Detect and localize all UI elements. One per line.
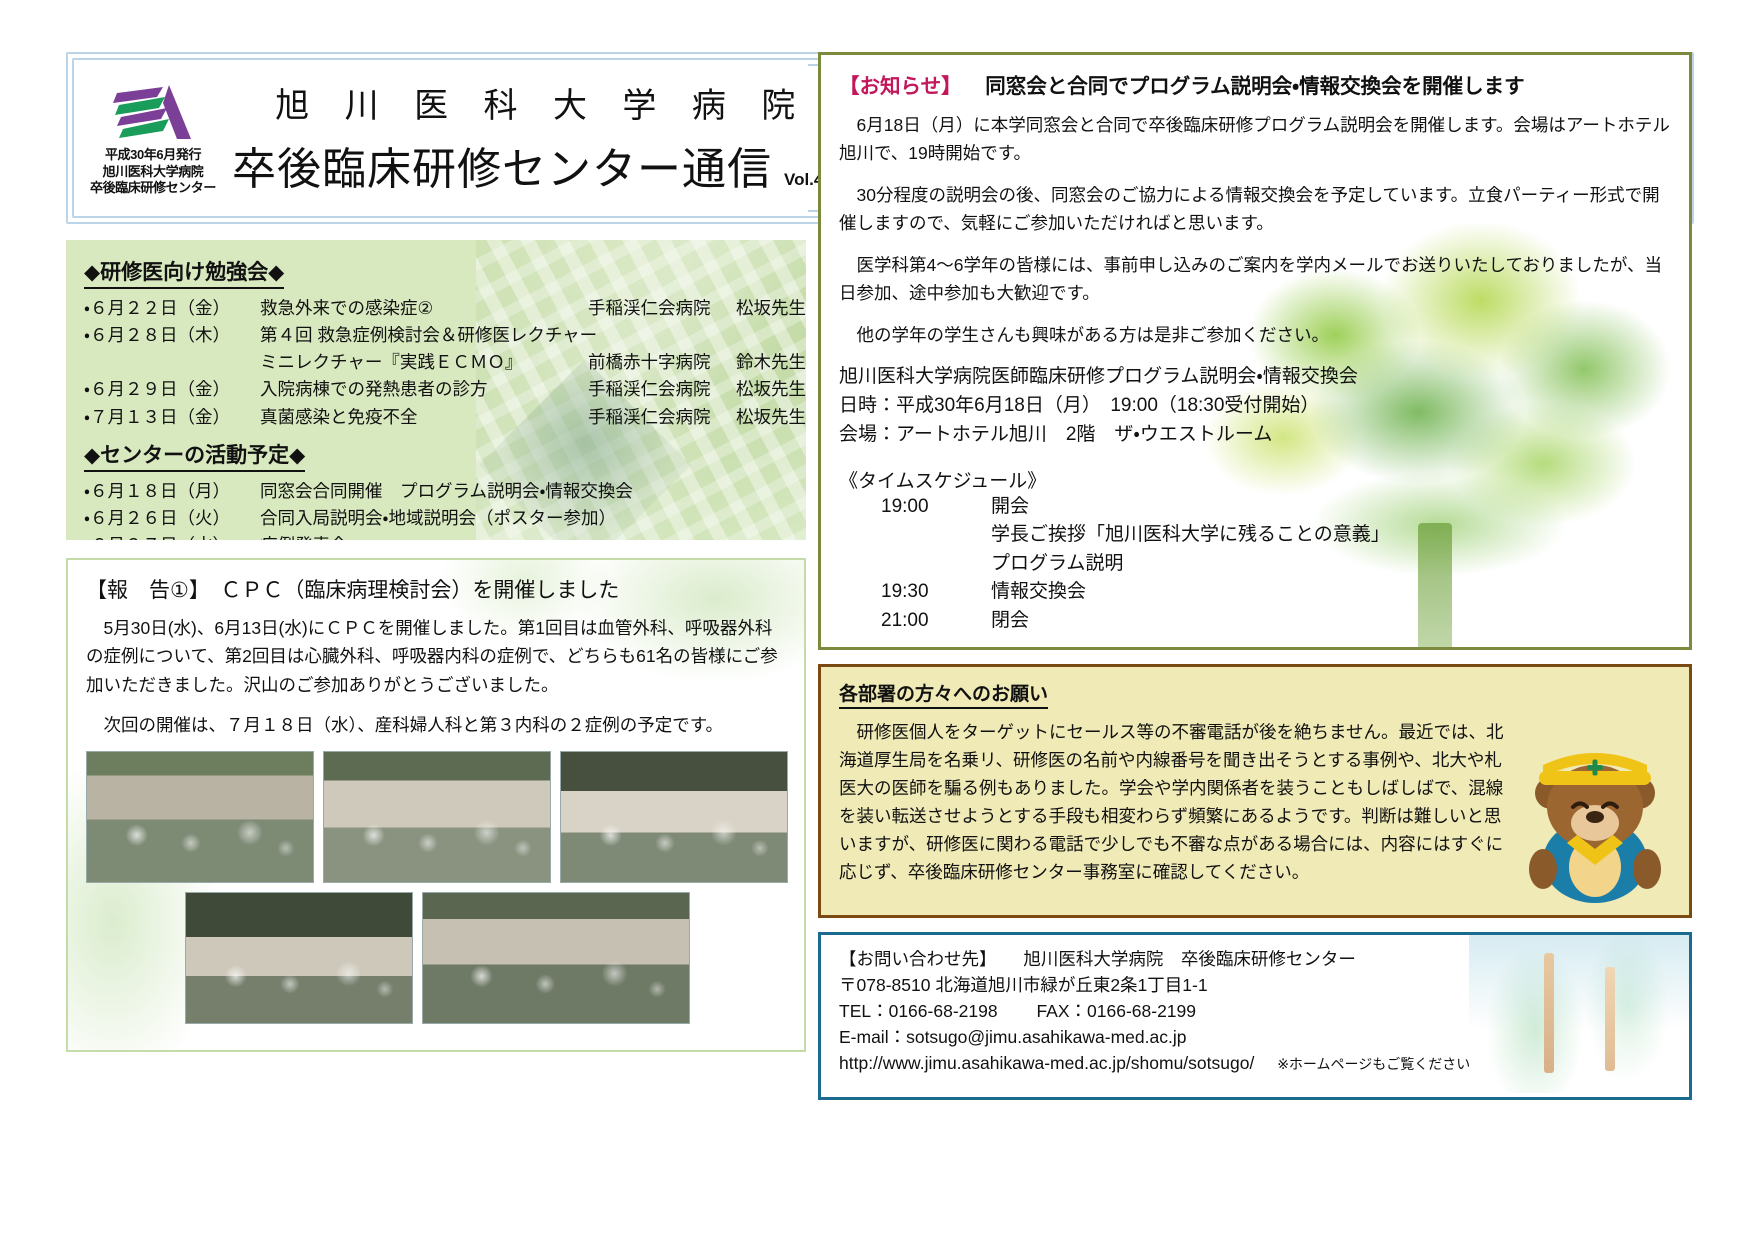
newsletter-page: 平成30年6月発行 旭川医科大学病院 卒後臨床研修センター 旭 川 医 科 大 … xyxy=(0,0,1754,1240)
study-row: ・７月１３日（金） 真菌感染と免疫不全 手稲渓仁会病院 松坂先生 xyxy=(84,404,792,431)
organization-name: 旭 川 医 科 大 学 病 院 xyxy=(232,78,838,127)
contact-postal: 〒078-8510 北海道旭川市緑が丘東2条1丁目1-1 xyxy=(839,973,1673,999)
center-date: ・６月２６日（火） xyxy=(84,505,260,532)
contact-phone-line: TEL：0166-68-2198 FAX：0166-68-2199 xyxy=(839,999,1673,1025)
contact-url[interactable]: http://www.jimu.asahikawa-med.ac.jp/shom… xyxy=(839,1053,1254,1073)
contact-org: 旭川医科大学病院 卒後臨床研修センター xyxy=(1023,949,1356,969)
timeschedule-event: 学長ご挨拶「旭川医科大学に残ることの意義」 xyxy=(991,521,1671,550)
timeschedule-event: プログラム説明 xyxy=(991,550,1671,579)
center-topic: 症例発表会 xyxy=(260,532,348,540)
study-teacher: 松坂先生 xyxy=(736,295,806,322)
study-row: ・６月２９日（金） 入院病棟での発熱患者の診方 手稲渓仁会病院 松坂先生 xyxy=(84,376,792,403)
timeschedule-time: 21:00 xyxy=(839,607,991,636)
event-datetime: 日時：平成30年6月18日（月） 19:00（18:30受付開始） xyxy=(839,392,1671,421)
report-heading: 【報 告①】 ＣＰＣ（臨床病理検討会）を開催しました xyxy=(86,574,788,604)
event-details: 旭川医科大学病院医師臨床研修プログラム説明会・情報交換会 日時：平成30年6月1… xyxy=(839,363,1671,450)
cpc-photo-5 xyxy=(422,892,690,1024)
timeschedule-heading: 《タイムスケジュール》 xyxy=(839,466,1671,493)
center-row: ・６月２７日（水） 症例発表会 xyxy=(84,532,792,540)
request-panel: 各部署の方々へのお願い 研修医個人をターゲットにセールス等の不審電話が後を絶ちま… xyxy=(818,664,1692,918)
study-hospital: 手稲渓仁会病院 xyxy=(588,404,736,431)
timeschedule-row: プログラム説明 xyxy=(839,550,1671,579)
schedule-panel: ◆研修医向け勉強会◆ ・６月２２日（金） 救急外来での感染症② 手稲渓仁会病院 … xyxy=(66,240,806,540)
report-paragraph: 次回の開催は、７月１８日（水）、産科婦人科と第３内科の２症例の予定です。 xyxy=(86,711,788,739)
timeschedule-time: 19:00 xyxy=(839,493,991,522)
study-row: ・６月２８日（木） 第４回 救急症例検討会＆研修医レクチャー xyxy=(84,322,792,349)
notice-paragraph: 6月18日（月）に本学同窓会と合同で卒後臨床研修プログラム説明会を開催します。会… xyxy=(839,111,1671,167)
notice-paragraph: 30分程度の説明会の後、同窓会のご協力による情報交換会を予定しています。立食パー… xyxy=(839,181,1671,237)
center-row: ・６月２６日（火） 合同入局説明会・地域説明会（ポスター参加） xyxy=(84,505,792,532)
notice-paragraph: 他の学年の学生さんも興味がある方は是非ご参加ください。 xyxy=(839,321,1671,349)
cpc-photo-2 xyxy=(323,751,551,883)
center-topic: 合同入局説明会・地域説明会（ポスター参加） xyxy=(260,505,616,532)
report-photo-row xyxy=(86,892,788,1024)
timeschedule-event: 閉会 xyxy=(991,607,1671,636)
request-heading: 各部署の方々へのお願い xyxy=(839,679,1048,709)
contact-url-note: ※ホームページもご覧ください xyxy=(1277,1056,1470,1072)
timeschedule-row: 19:30 情報交換会 xyxy=(839,578,1671,607)
study-row: ・６月２２日（金） 救急外来での感染症② 手稲渓仁会病院 松坂先生 xyxy=(84,295,792,322)
bear-mascot-icon xyxy=(1515,735,1675,907)
notice-heading-text: 同窓会と合同でプログラム説明会・情報交換会を開催します xyxy=(985,75,1524,98)
study-date: ・６月２９日（金） xyxy=(84,376,260,403)
logo-block: 平成30年6月発行 旭川医科大学病院 卒後臨床研修センター xyxy=(78,77,228,197)
study-teacher: 鈴木先生 xyxy=(736,349,806,376)
timeschedule-row: 19:00 開会 xyxy=(839,493,1671,522)
contact-email[interactable]: E-mail：sotsugo@jimu.asahikawa-med.ac.jp xyxy=(839,1025,1673,1051)
notice-tag: 【お知らせ】 xyxy=(839,75,962,98)
study-topic: 真菌感染と免疫不全 xyxy=(260,404,588,431)
center-row: ・６月１８日（月） 同窓会合同開催 プログラム説明会・情報交換会 xyxy=(84,478,792,505)
timeschedule-row: 学長ご挨拶「旭川医科大学に残ることの意義」 xyxy=(839,521,1671,550)
notice-panel: 【お知らせ】 同窓会と合同でプログラム説明会・情報交換会を開催します 6月18日… xyxy=(818,52,1692,650)
university-logo-icon xyxy=(107,81,199,143)
study-row: ミニレクチャー『実践ＥＣＭＯ』 前橋赤十字病院 鈴木先生 xyxy=(84,349,792,376)
study-topic: 救急外来での感染症② xyxy=(260,295,588,322)
report-paragraph: 5月30日(水)、6月13日(水)にＣＰＣを開催しました。第1回目は血管外科、呼… xyxy=(86,614,788,699)
study-teacher: 松坂先生 xyxy=(736,404,806,431)
logo-caption-line-2: 旭川医科大学病院 xyxy=(78,164,228,181)
notice-heading: 【お知らせ】 同窓会と合同でプログラム説明会・情報交換会を開催します xyxy=(839,69,1671,99)
center-topic: 同窓会合同開催 プログラム説明会・情報交換会 xyxy=(260,478,633,505)
study-date: ・６月２２日（金） xyxy=(84,295,260,322)
contact-url-line[interactable]: http://www.jimu.asahikawa-med.ac.jp/shom… xyxy=(839,1051,1673,1077)
center-date: ・６月１８日（月） xyxy=(84,478,260,505)
contact-header-line: 【お問い合わせ先】 旭川医科大学病院 卒後臨床研修センター xyxy=(839,947,1673,973)
study-teacher: 松坂先生 xyxy=(736,376,806,403)
study-date: ・６月２８日（木） xyxy=(84,322,260,349)
notice-paragraph: 医学科第4～6学年の皆様には、事前申し込みのご案内を学内メールでお送りいたしてお… xyxy=(839,251,1671,307)
right-column: 【お知らせ】 同窓会と合同でプログラム説明会・情報交換会を開催します 6月18日… xyxy=(818,52,1690,1100)
cpc-photo-4 xyxy=(185,892,413,1024)
report-photo-row xyxy=(86,751,788,883)
contact-panel: 【お問い合わせ先】 旭川医科大学病院 卒後臨床研修センター 〒078-8510 … xyxy=(818,932,1692,1100)
contact-label: 【お問い合わせ先】 xyxy=(839,949,997,969)
study-topic: 入院病棟での発熱患者の診方 xyxy=(260,376,588,403)
page-title: 卒後臨床研修センター通信 xyxy=(232,133,772,197)
study-topic: ミニレクチャー『実践ＥＣＭＯ』 xyxy=(260,349,588,376)
center-date: ・６月２７日（水） xyxy=(84,532,260,540)
logo-caption-line-1: 平成30年6月発行 xyxy=(78,147,228,164)
cpc-photo-3 xyxy=(560,751,788,883)
study-date: ・７月１３日（金） xyxy=(84,404,260,431)
contact-fax: FAX：0166-68-2199 xyxy=(1036,1001,1196,1021)
study-hospital: 前橋赤十字病院 xyxy=(588,349,736,376)
study-section-heading: ◆研修医向け勉強会◆ xyxy=(84,256,284,289)
timeschedule-row: 21:00 閉会 xyxy=(839,607,1671,636)
study-topic: 第４回 救急症例検討会＆研修医レクチャー xyxy=(260,322,597,349)
logo-caption-line-3: 卒後臨床研修センター xyxy=(78,180,228,197)
page-header: 平成30年6月発行 旭川医科大学病院 卒後臨床研修センター 旭 川 医 科 大 … xyxy=(78,62,808,212)
report-panel: 【報 告①】 ＣＰＣ（臨床病理検討会）を開催しました 5月30日(水)、6月13… xyxy=(66,558,806,1052)
event-title: 旭川医科大学病院医師臨床研修プログラム説明会・情報交換会 xyxy=(839,363,1671,392)
study-hospital: 手稲渓仁会病院 xyxy=(588,295,736,322)
center-section-heading: ◆センターの活動予定◆ xyxy=(84,439,305,472)
contact-tel: TEL：0166-68-2198 xyxy=(839,1001,998,1021)
timeschedule-event: 情報交換会 xyxy=(991,578,1671,607)
timeschedule-event: 開会 xyxy=(991,493,1671,522)
title-block: 旭 川 医 科 大 学 病 院 卒後臨床研修センター通信 Vol.4 0 xyxy=(228,78,838,197)
event-venue: 会場：アートホテル旭川 2階 ザ・ウエストルーム xyxy=(839,421,1671,450)
left-column: ◆研修医向け勉強会◆ ・６月２２日（金） 救急外来での感染症② 手稲渓仁会病院 … xyxy=(66,240,806,1052)
study-hospital: 手稲渓仁会病院 xyxy=(588,376,736,403)
timeschedule-time: 19:30 xyxy=(839,578,991,607)
cpc-photo-1 xyxy=(86,751,314,883)
